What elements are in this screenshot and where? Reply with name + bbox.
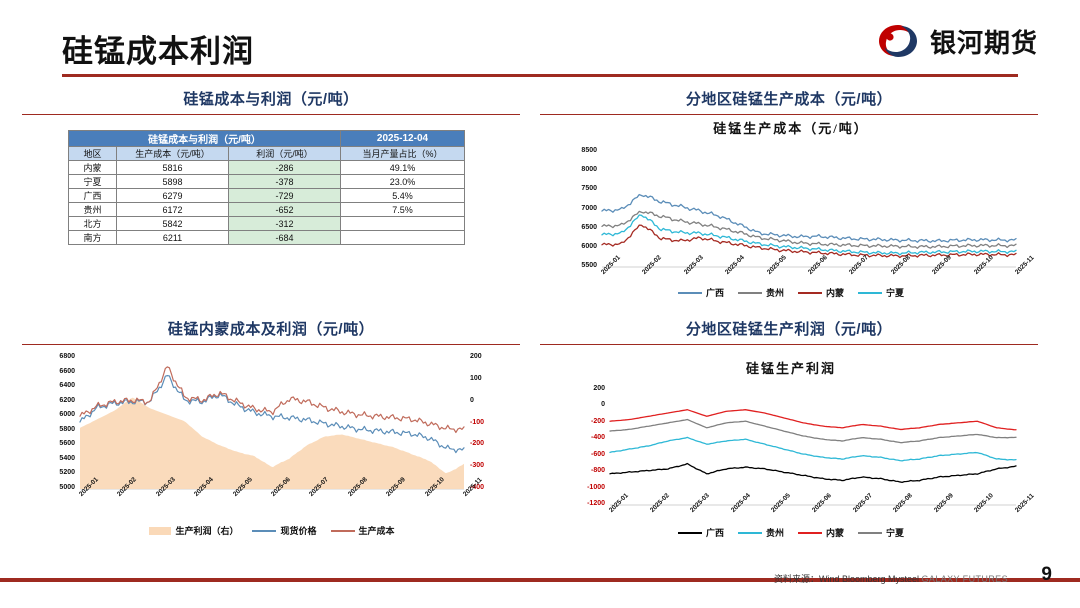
legend-label: 广西 bbox=[706, 286, 724, 299]
brand-name: 银河期货 bbox=[930, 23, 1038, 60]
cell-region: 广西 bbox=[69, 189, 117, 203]
legend-item[interactable]: 内蒙 bbox=[798, 526, 844, 539]
table-title-row: 硅锰成本与利润（元/吨） 2025-12-04 bbox=[69, 131, 465, 147]
cell-profit: -652 bbox=[229, 203, 341, 217]
legend-swatch bbox=[798, 532, 822, 534]
source-prefix: 资料来源： bbox=[774, 574, 819, 584]
chart-title: 硅锰生产成本（元/吨） bbox=[556, 118, 1026, 137]
y-axis-tick: 6200 bbox=[34, 397, 75, 404]
table-row: 南方 6211 -684 bbox=[69, 231, 465, 245]
cell-profit: -378 bbox=[229, 175, 341, 189]
panel-cost-by-region: 分地区硅锰生产成本（元/吨） bbox=[540, 88, 1038, 115]
title-divider bbox=[62, 74, 1018, 77]
y-axis-tick: 5800 bbox=[34, 426, 75, 433]
cell-profit: -684 bbox=[229, 231, 341, 245]
panel-divider bbox=[22, 114, 520, 115]
cell-region: 内蒙 bbox=[69, 161, 117, 175]
panel-title: 硅锰内蒙成本及利润（元/吨） bbox=[22, 318, 520, 339]
panel-divider bbox=[22, 344, 520, 345]
legend-item[interactable]: 宁夏 bbox=[858, 286, 904, 299]
cell-region: 宁夏 bbox=[69, 175, 117, 189]
panel-divider bbox=[540, 344, 1038, 345]
legend-label: 宁夏 bbox=[886, 526, 904, 539]
y-axis-tick: 8500 bbox=[556, 147, 597, 154]
legend-swatch bbox=[738, 532, 762, 534]
y-axis-tick: 5500 bbox=[556, 262, 597, 269]
chart-legend: 广西贵州内蒙宁夏 bbox=[556, 526, 1026, 539]
y-axis-tick: 7000 bbox=[556, 205, 597, 212]
legend-swatch bbox=[858, 532, 882, 534]
chart-svg bbox=[556, 384, 1026, 549]
legend-swatch bbox=[678, 532, 702, 534]
legend-swatch bbox=[331, 530, 355, 532]
legend-item[interactable]: 广西 bbox=[678, 286, 724, 299]
chart-svg bbox=[34, 352, 510, 537]
y-axis-tick-right: 0 bbox=[470, 397, 474, 404]
legend-item[interactable]: 贵州 bbox=[738, 286, 784, 299]
cell-share bbox=[341, 217, 465, 231]
panel-header: 硅锰成本与利润（元/吨） bbox=[22, 88, 520, 115]
legend-item[interactable]: 宁夏 bbox=[858, 526, 904, 539]
y-axis-tick-right: -100 bbox=[470, 419, 484, 426]
legend-swatch bbox=[738, 292, 762, 294]
table-title: 硅锰成本与利润（元/吨） bbox=[69, 131, 341, 147]
y-axis-tick: 6800 bbox=[34, 353, 75, 360]
cell-cost: 6211 bbox=[117, 231, 229, 245]
cell-share: 23.0% bbox=[341, 175, 465, 189]
y-axis-tick: 200 bbox=[556, 385, 605, 392]
cell-profit: -312 bbox=[229, 217, 341, 231]
legend-label: 生产利润（右） bbox=[175, 524, 238, 537]
legend-swatch bbox=[678, 292, 702, 294]
y-axis-tick: 6400 bbox=[34, 382, 75, 389]
col-header-profit: 利润（元/吨） bbox=[229, 147, 341, 161]
col-header-cost: 生产成本（元/吨） bbox=[117, 147, 229, 161]
cell-profit: -286 bbox=[229, 161, 341, 175]
footer-brand-en: GALAXY FUTURES bbox=[922, 574, 1008, 584]
cell-region: 南方 bbox=[69, 231, 117, 245]
table-row: 宁夏 5898 -378 23.0% bbox=[69, 175, 465, 189]
legend-swatch bbox=[149, 527, 171, 535]
cell-cost: 6279 bbox=[117, 189, 229, 203]
table-row: 广西 6279 -729 5.4% bbox=[69, 189, 465, 203]
y-axis-tick: 5200 bbox=[34, 469, 75, 476]
cell-share: 7.5% bbox=[341, 203, 465, 217]
y-axis-tick: 5600 bbox=[34, 440, 75, 447]
col-header-share: 当月产量占比（%） bbox=[341, 147, 465, 161]
chart-cost-by-region: 硅锰生产成本（元/吨） 8500800075007000650060005500… bbox=[556, 118, 1026, 308]
y-axis-tick: -800 bbox=[556, 467, 605, 474]
brand-logo: 银河期货 bbox=[876, 22, 1038, 60]
cell-cost: 6172 bbox=[117, 203, 229, 217]
legend-item[interactable]: 广西 bbox=[678, 526, 724, 539]
legend-item[interactable]: 现货价格 bbox=[252, 524, 316, 537]
legend-label: 现货价格 bbox=[280, 524, 316, 537]
panel-header: 分地区硅锰生产成本（元/吨） bbox=[540, 88, 1038, 115]
panel-inner-mongolia: 硅锰内蒙成本及利润（元/吨） bbox=[22, 318, 520, 345]
cell-region: 贵州 bbox=[69, 203, 117, 217]
cost-profit-table: 硅锰成本与利润（元/吨） 2025-12-04 地区 生产成本（元/吨） 利润（… bbox=[68, 130, 465, 245]
panel-header: 硅锰内蒙成本及利润（元/吨） bbox=[22, 318, 520, 345]
legend-swatch bbox=[252, 530, 276, 532]
legend-label: 贵州 bbox=[766, 526, 784, 539]
panel-title: 硅锰成本与利润（元/吨） bbox=[22, 88, 520, 109]
page-header: 硅锰成本利润 银河期货 bbox=[0, 0, 1080, 80]
cell-region: 北方 bbox=[69, 217, 117, 231]
y-axis-tick: -1000 bbox=[556, 484, 605, 491]
legend-swatch bbox=[798, 292, 822, 294]
y-axis-tick: -600 bbox=[556, 451, 605, 458]
y-axis-tick: 7500 bbox=[556, 185, 597, 192]
legend-label: 生产成本 bbox=[359, 524, 395, 537]
y-axis-tick: 5000 bbox=[34, 484, 75, 491]
cell-cost: 5898 bbox=[117, 175, 229, 189]
y-axis-tick: 8000 bbox=[556, 166, 597, 173]
page-title: 硅锰成本利润 bbox=[62, 26, 254, 71]
table-row: 贵州 6172 -652 7.5% bbox=[69, 203, 465, 217]
y-axis-tick: -200 bbox=[556, 418, 605, 425]
page-number: 9 bbox=[1041, 564, 1052, 586]
panel-title: 分地区硅锰生产成本（元/吨） bbox=[540, 88, 1038, 109]
legend-swatch bbox=[858, 292, 882, 294]
source-note: 资料来源：Wind Bloomberg Mysteel GALAXY FUTUR… bbox=[774, 572, 1008, 585]
y-axis-tick: 6600 bbox=[34, 368, 75, 375]
y-axis-tick: 6000 bbox=[34, 411, 75, 418]
y-axis-tick-right: 100 bbox=[470, 375, 482, 382]
legend-item[interactable]: 贵州 bbox=[738, 526, 784, 539]
table-header-row: 地区 生产成本（元/吨） 利润（元/吨） 当月产量占比（%） bbox=[69, 147, 465, 161]
chart-legend: 广西贵州内蒙宁夏 bbox=[556, 286, 1026, 299]
y-axis-tick: 6000 bbox=[556, 243, 597, 250]
y-axis-tick-right: -200 bbox=[470, 440, 484, 447]
chart-inner-mongolia-cost-profit: 6800660064006200600058005600540052005000… bbox=[34, 352, 510, 552]
panel-profit-by-region: 分地区硅锰生产利润（元/吨） bbox=[540, 318, 1038, 345]
source-list: Wind Bloomberg Mysteel bbox=[819, 574, 919, 584]
chart-profit-by-region: 硅锰生产利润 2000-200-400-600-800-1000-1200202… bbox=[556, 358, 1026, 548]
legend-item[interactable]: 内蒙 bbox=[798, 286, 844, 299]
legend-label: 贵州 bbox=[766, 286, 784, 299]
table-row: 北方 5842 -312 bbox=[69, 217, 465, 231]
col-header-region: 地区 bbox=[69, 147, 117, 161]
cell-share bbox=[341, 231, 465, 245]
cell-share: 49.1% bbox=[341, 161, 465, 175]
y-axis-tick: -1200 bbox=[556, 500, 605, 507]
plot-area: 6800660064006200600058005600540052005000… bbox=[34, 352, 510, 537]
legend-item[interactable]: 生产成本 bbox=[331, 524, 395, 537]
galaxy-swirl-logo-icon bbox=[876, 22, 920, 60]
plot-area: 2000-200-400-600-800-1000-12002025-01202… bbox=[556, 384, 1026, 549]
panel-header: 分地区硅锰生产利润（元/吨） bbox=[540, 318, 1038, 345]
y-axis-tick: 6500 bbox=[556, 224, 597, 231]
panel-title: 分地区硅锰生产利润（元/吨） bbox=[540, 318, 1038, 339]
y-axis-tick: -400 bbox=[556, 434, 605, 441]
legend-label: 内蒙 bbox=[826, 286, 844, 299]
cell-cost: 5816 bbox=[117, 161, 229, 175]
legend-item[interactable]: 生产利润（右） bbox=[149, 524, 238, 537]
cell-cost: 5842 bbox=[117, 217, 229, 231]
panel-divider bbox=[540, 114, 1038, 115]
y-axis-tick: 0 bbox=[556, 401, 605, 408]
cell-share: 5.4% bbox=[341, 189, 465, 203]
legend-label: 宁夏 bbox=[886, 286, 904, 299]
y-axis-tick: 5400 bbox=[34, 455, 75, 462]
table-row: 内蒙 5816 -286 49.1% bbox=[69, 161, 465, 175]
legend-label: 内蒙 bbox=[826, 526, 844, 539]
chart-title: 硅锰生产利润 bbox=[556, 358, 1026, 377]
y-axis-tick-right: -300 bbox=[470, 462, 484, 469]
table-date: 2025-12-04 bbox=[341, 131, 465, 147]
y-axis-tick-right: 200 bbox=[470, 353, 482, 360]
panel-cost-and-profit: 硅锰成本与利润（元/吨） bbox=[22, 88, 520, 115]
chart-legend: 生产利润（右）现货价格生产成本 bbox=[34, 524, 510, 537]
legend-label: 广西 bbox=[706, 526, 724, 539]
cell-profit: -729 bbox=[229, 189, 341, 203]
